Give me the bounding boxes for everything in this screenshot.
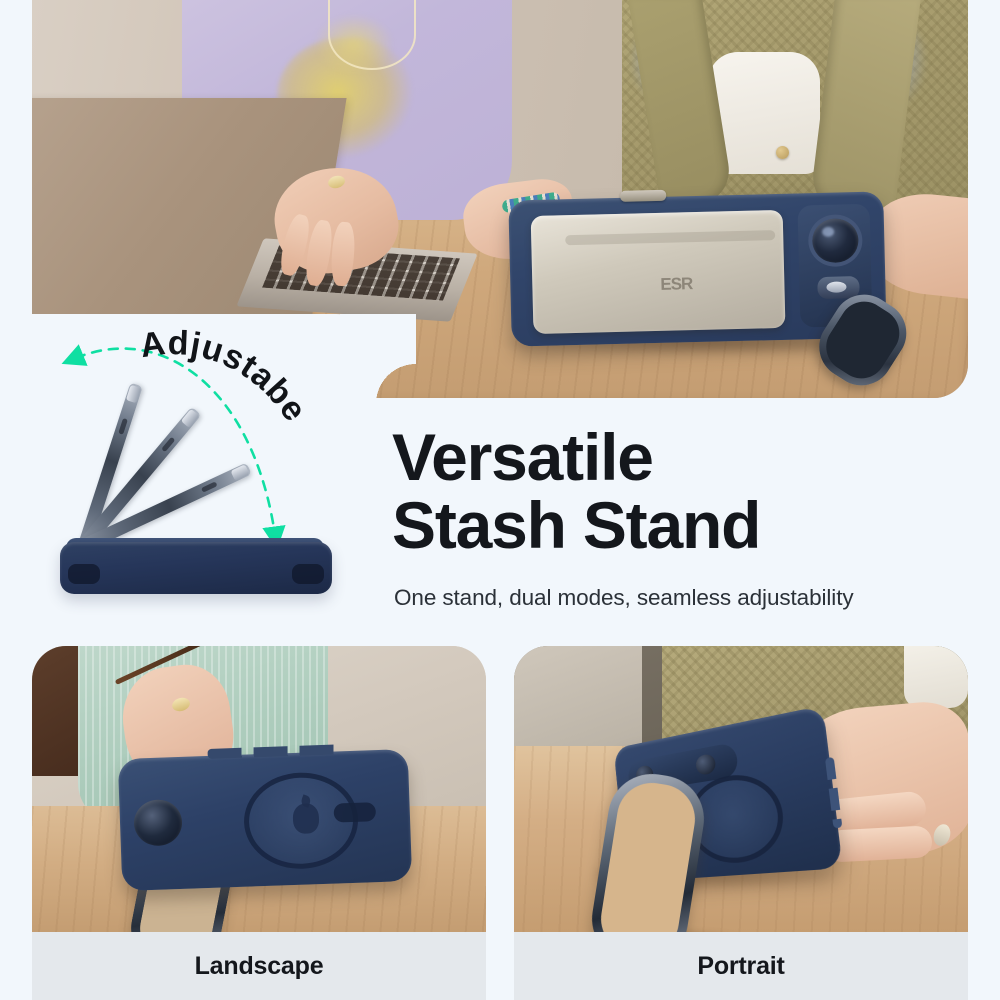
adjustable-label: Adjustabe <box>138 324 315 429</box>
power-bank: ESR <box>531 210 786 334</box>
adjustable-label-svg: Adjustabe <box>120 330 350 550</box>
power-bank-button <box>620 190 666 202</box>
mode-panel-landscape: Landscape <box>32 646 486 1000</box>
portrait-wall-light <box>514 646 642 756</box>
finger <box>825 825 933 863</box>
camera-lens-icon <box>133 799 183 847</box>
mode-panel-portrait: Portrait <box>514 646 968 1000</box>
landscape-photo <box>32 646 486 932</box>
cardigan-button <box>776 146 789 159</box>
power-bank-label-strip <box>565 230 775 245</box>
hero-product: ESR <box>508 191 886 346</box>
headline-line-2: Stash Stand <box>392 492 992 560</box>
headline-line-1: Versatile <box>392 420 653 494</box>
page-title: Versatile Stash Stand <box>392 424 992 560</box>
product-feature-page: ESR <box>0 0 1000 1000</box>
necklace <box>328 0 416 70</box>
landscape-caption: Landscape <box>32 932 486 1000</box>
apple-logo-icon <box>292 803 319 834</box>
phone-landscape <box>118 749 412 891</box>
brand-logo: ESR <box>660 274 686 295</box>
portrait-photo <box>514 646 968 932</box>
phone-accent-pill <box>333 802 376 822</box>
page-subtitle: One stand, dual modes, seamless adjustab… <box>394 585 994 611</box>
white-undershirt <box>904 646 968 708</box>
portrait-caption: Portrait <box>514 932 968 1000</box>
